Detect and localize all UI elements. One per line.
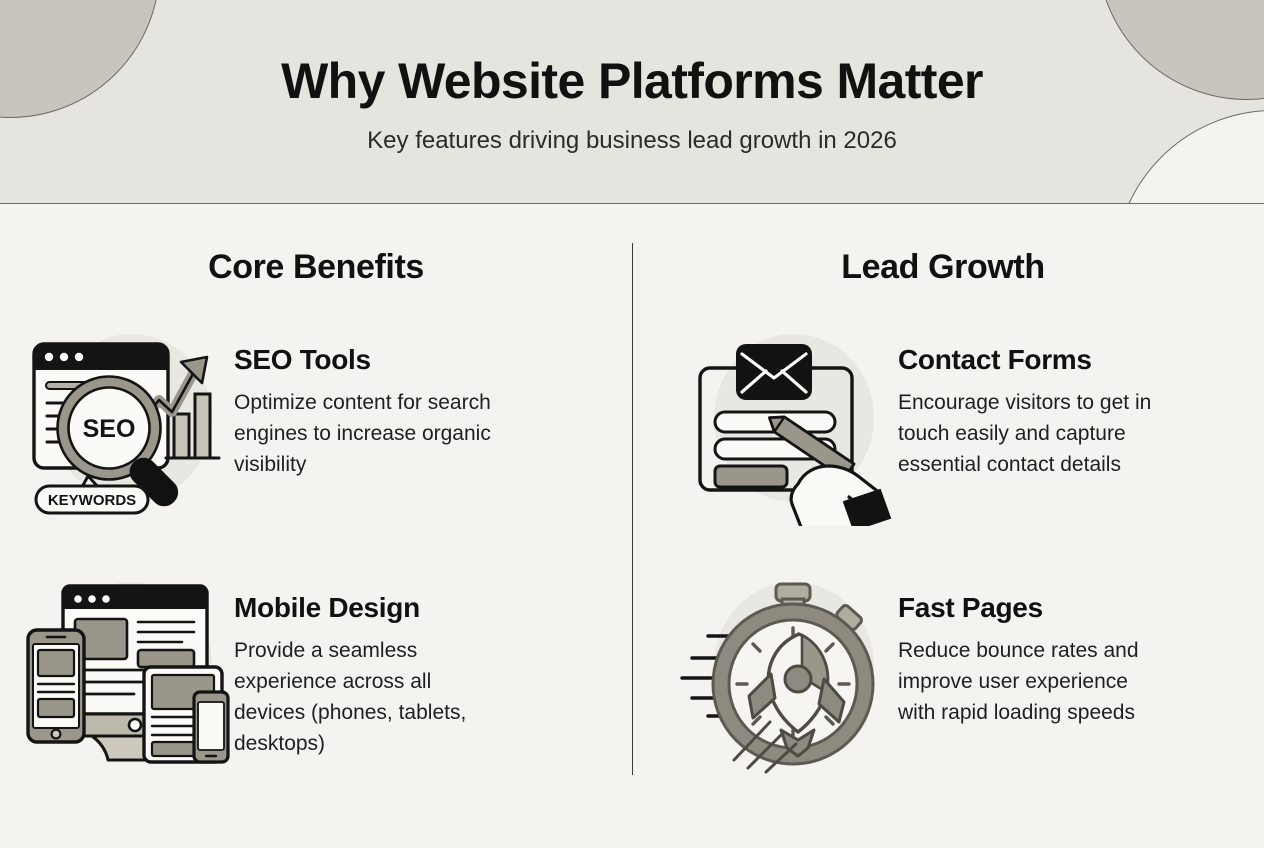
card-title-contact-forms: Contact Forms	[898, 344, 1166, 376]
card-title-mobile-design: Mobile Design	[234, 592, 494, 624]
column-heading-core-benefits: Core Benefits	[0, 248, 632, 287]
fast-pages-icon	[678, 574, 896, 774]
keywords-callout-label: KEYWORDS	[48, 492, 136, 509]
card-seo-tools: SEO KEYWORDS SEO Tools Optimize content …	[16, 326, 616, 526]
page-title: Why Website Platforms Matter	[281, 54, 983, 109]
content-area: Core Benefits	[0, 204, 1264, 848]
stopwatch-rocket-glyph	[678, 574, 896, 774]
mobile-design-icon	[16, 574, 234, 774]
column-lead-growth: Lead Growth	[632, 204, 1264, 848]
contact-forms-icon	[678, 326, 896, 526]
responsive-devices-glyph	[16, 574, 234, 774]
column-heading-lead-growth: Lead Growth	[632, 248, 1264, 287]
card-description-seo-tools: Optimize content for search engines to i…	[234, 387, 494, 480]
contact-form-glyph	[678, 326, 896, 526]
seo-tools-icon: SEO KEYWORDS	[16, 326, 234, 526]
card-description-mobile-design: Provide a seamless experience across all…	[234, 635, 494, 759]
card-description-fast-pages: Reduce bounce rates and improve user exp…	[898, 635, 1166, 728]
page-subtitle: Key features driving business lead growt…	[367, 127, 897, 155]
seo-lens-label: SEO	[83, 415, 136, 443]
header-band: Why Website Platforms Matter Key feature…	[0, 0, 1264, 204]
card-title-seo-tools: SEO Tools	[234, 344, 494, 376]
column-core-benefits: Core Benefits	[0, 204, 632, 848]
seo-tools-glyph: SEO KEYWORDS	[16, 326, 234, 526]
card-title-fast-pages: Fast Pages	[898, 592, 1166, 624]
card-contact-forms: Contact Forms Encourage visitors to get …	[678, 326, 1258, 526]
card-mobile-design: Mobile Design Provide a seamless experie…	[16, 574, 616, 774]
card-description-contact-forms: Encourage visitors to get in touch easil…	[898, 387, 1166, 480]
card-fast-pages: Fast Pages Reduce bounce rates and impro…	[678, 574, 1258, 774]
